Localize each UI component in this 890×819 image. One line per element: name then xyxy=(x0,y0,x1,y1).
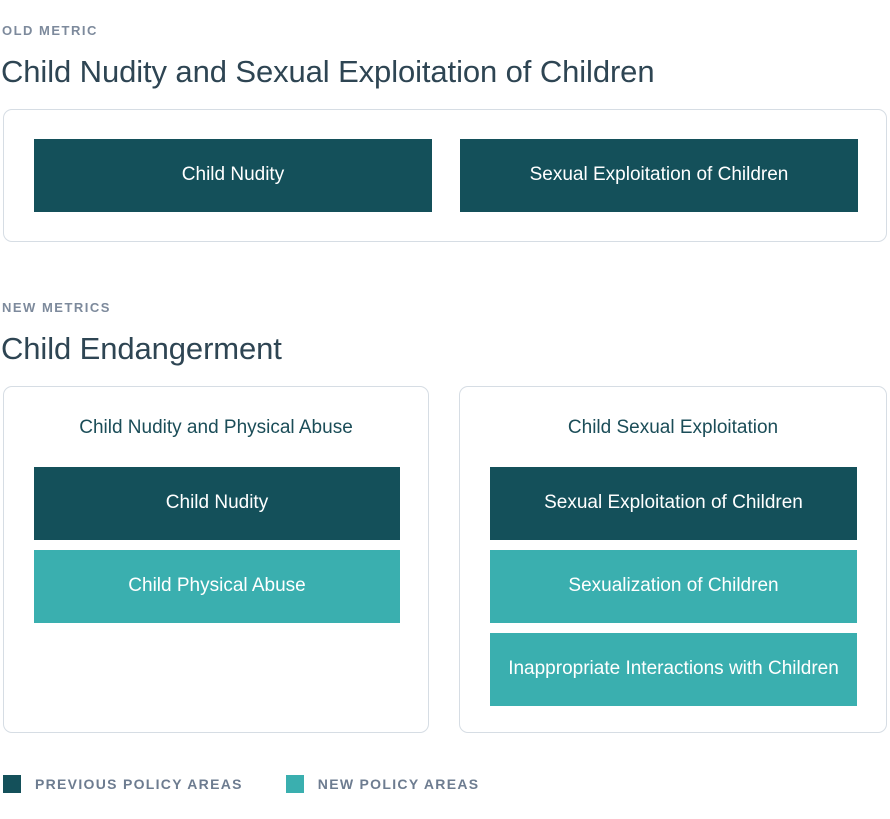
bar-label: Inappropriate Interactions with Children xyxy=(508,657,839,681)
legend-swatch-previous-icon xyxy=(3,775,21,793)
legend: PREVIOUS POLICY AREAS NEW POLICY AREAS xyxy=(3,775,479,793)
bar-child-physical-abuse[interactable]: Child Physical Abuse xyxy=(34,550,400,623)
bar-label: Sexual Exploitation of Children xyxy=(530,163,789,187)
card-child-sexual-exploitation: Child Sexual Exploitation Sexual Exploit… xyxy=(459,386,887,733)
bar-label: Child Nudity xyxy=(182,163,284,187)
bar-label: Child Nudity xyxy=(166,491,268,515)
legend-item-new: NEW POLICY AREAS xyxy=(286,775,480,793)
bar-child-nudity-old[interactable]: Child Nudity xyxy=(34,139,432,212)
bar-child-nudity-new[interactable]: Child Nudity xyxy=(34,467,400,540)
legend-label: PREVIOUS POLICY AREAS xyxy=(35,776,243,792)
card-child-nudity-and-physical-abuse: Child Nudity and Physical Abuse Child Nu… xyxy=(3,386,429,733)
new-metrics-headline: Child Endangerment xyxy=(1,331,282,367)
legend-swatch-new-icon xyxy=(286,775,304,793)
new-metrics-eyebrow: NEW METRICS xyxy=(2,301,111,314)
card-title: Child Nudity and Physical Abuse xyxy=(4,417,428,440)
card-title: Child Sexual Exploitation xyxy=(460,417,886,440)
old-metric-card: Child Nudity Sexual Exploitation of Chil… xyxy=(3,109,887,242)
bar-inappropriate-interactions-with-children[interactable]: Inappropriate Interactions with Children xyxy=(490,633,857,706)
bar-label: Sexualization of Children xyxy=(568,574,778,598)
bar-sexual-exploitation-old[interactable]: Sexual Exploitation of Children xyxy=(460,139,858,212)
diagram-canvas: OLD METRIC Child Nudity and Sexual Explo… xyxy=(0,0,890,819)
old-metric-eyebrow: OLD METRIC xyxy=(2,24,98,37)
old-metric-headline: Child Nudity and Sexual Exploitation of … xyxy=(1,54,654,90)
bar-sexualization-of-children[interactable]: Sexualization of Children xyxy=(490,550,857,623)
bar-label: Child Physical Abuse xyxy=(128,574,305,598)
bar-label: Sexual Exploitation of Children xyxy=(544,491,803,515)
legend-item-previous: PREVIOUS POLICY AREAS xyxy=(3,775,243,793)
bar-sexual-exploitation-new[interactable]: Sexual Exploitation of Children xyxy=(490,467,857,540)
legend-label: NEW POLICY AREAS xyxy=(318,776,480,792)
